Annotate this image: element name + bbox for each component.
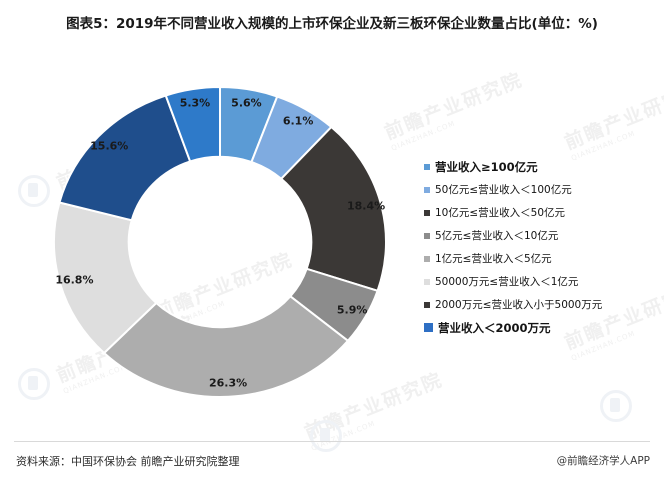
- legend-color-swatch: [424, 279, 430, 285]
- brand-credit: @前瞻经济学人APP: [557, 453, 650, 468]
- legend-item[interactable]: 2000万元≤营业收入小于5000万元: [424, 293, 656, 316]
- watermark-logo-icon: [310, 420, 342, 452]
- chart-title: 图表5：2019年不同营业收入规模的上市环保企业及新三板环保企业数量占比(单位：…: [0, 14, 664, 34]
- legend-item[interactable]: 营业收入＜2000万元: [424, 316, 656, 339]
- chart-legend: 营业收入≥100亿元50亿元≤营业收入＜100亿元10亿元≤营业收入＜50亿元5…: [424, 155, 656, 339]
- watermark-logo-icon: [600, 390, 632, 422]
- legend-item[interactable]: 5亿元≤营业收入＜10亿元: [424, 224, 656, 247]
- watermark-subtext: QIANZHAN.COM: [390, 90, 529, 152]
- donut-chart: 5.6%6.1%18.4%5.9%26.3%16.8%15.6%5.3%: [30, 70, 410, 415]
- legend-color-swatch: [424, 302, 430, 308]
- watermark-subtext: QIANZHAN.COM: [570, 100, 664, 162]
- slice-value-label: 18.4%: [347, 200, 385, 213]
- legend-item-label: 营业收入≥100亿元: [435, 161, 538, 173]
- slice-value-label: 16.8%: [55, 273, 93, 286]
- legend-color-swatch: [424, 210, 430, 216]
- legend-color-swatch: [424, 233, 430, 239]
- legend-item-label: 5亿元≤营业收入＜10亿元: [435, 230, 558, 242]
- legend-item-label: 10亿元≤营业收入＜50亿元: [435, 207, 565, 219]
- legend-item[interactable]: 10亿元≤营业收入＜50亿元: [424, 201, 656, 224]
- legend-item[interactable]: 1亿元≤营业收入＜5亿元: [424, 247, 656, 270]
- legend-item-label: 50亿元≤营业收入＜100亿元: [435, 184, 572, 196]
- legend-item[interactable]: 50000万元≤营业收入＜1亿元: [424, 270, 656, 293]
- chart-page: 前瞻产业研究院QIANZHAN.COM 前瞻产业研究院QIANZHAN.COM …: [0, 0, 664, 486]
- watermark-text: 前瞻产业研究院QIANZHAN.COM: [560, 75, 664, 163]
- slice-value-label: 5.3%: [180, 96, 211, 109]
- legend-item-label: 1亿元≤营业收入＜5亿元: [435, 253, 552, 265]
- legend-color-swatch: [424, 323, 433, 332]
- legend-item-label: 2000万元≤营业收入小于5000万元: [435, 299, 602, 311]
- slice-value-label: 6.1%: [283, 115, 314, 128]
- donut-chart-svg: [30, 70, 410, 415]
- slice-value-label: 5.6%: [231, 97, 262, 110]
- legend-item-label: 营业收入＜2000万元: [438, 322, 551, 334]
- slice-value-label: 26.3%: [209, 376, 247, 389]
- legend-color-swatch: [424, 256, 430, 262]
- legend-item-label: 50000万元≤营业收入＜1亿元: [435, 276, 578, 288]
- source-note: 资料来源：中国环保协会 前瞻产业研究院整理: [16, 453, 240, 469]
- legend-item[interactable]: 营业收入≥100亿元: [424, 155, 656, 178]
- donut-slice[interactable]: [59, 96, 190, 221]
- slice-value-label: 15.6%: [90, 140, 128, 153]
- legend-color-swatch: [424, 187, 430, 193]
- legend-color-swatch: [424, 164, 430, 170]
- footer-divider: [14, 441, 650, 442]
- legend-item[interactable]: 50亿元≤营业收入＜100亿元: [424, 178, 656, 201]
- slice-value-label: 5.9%: [337, 304, 368, 317]
